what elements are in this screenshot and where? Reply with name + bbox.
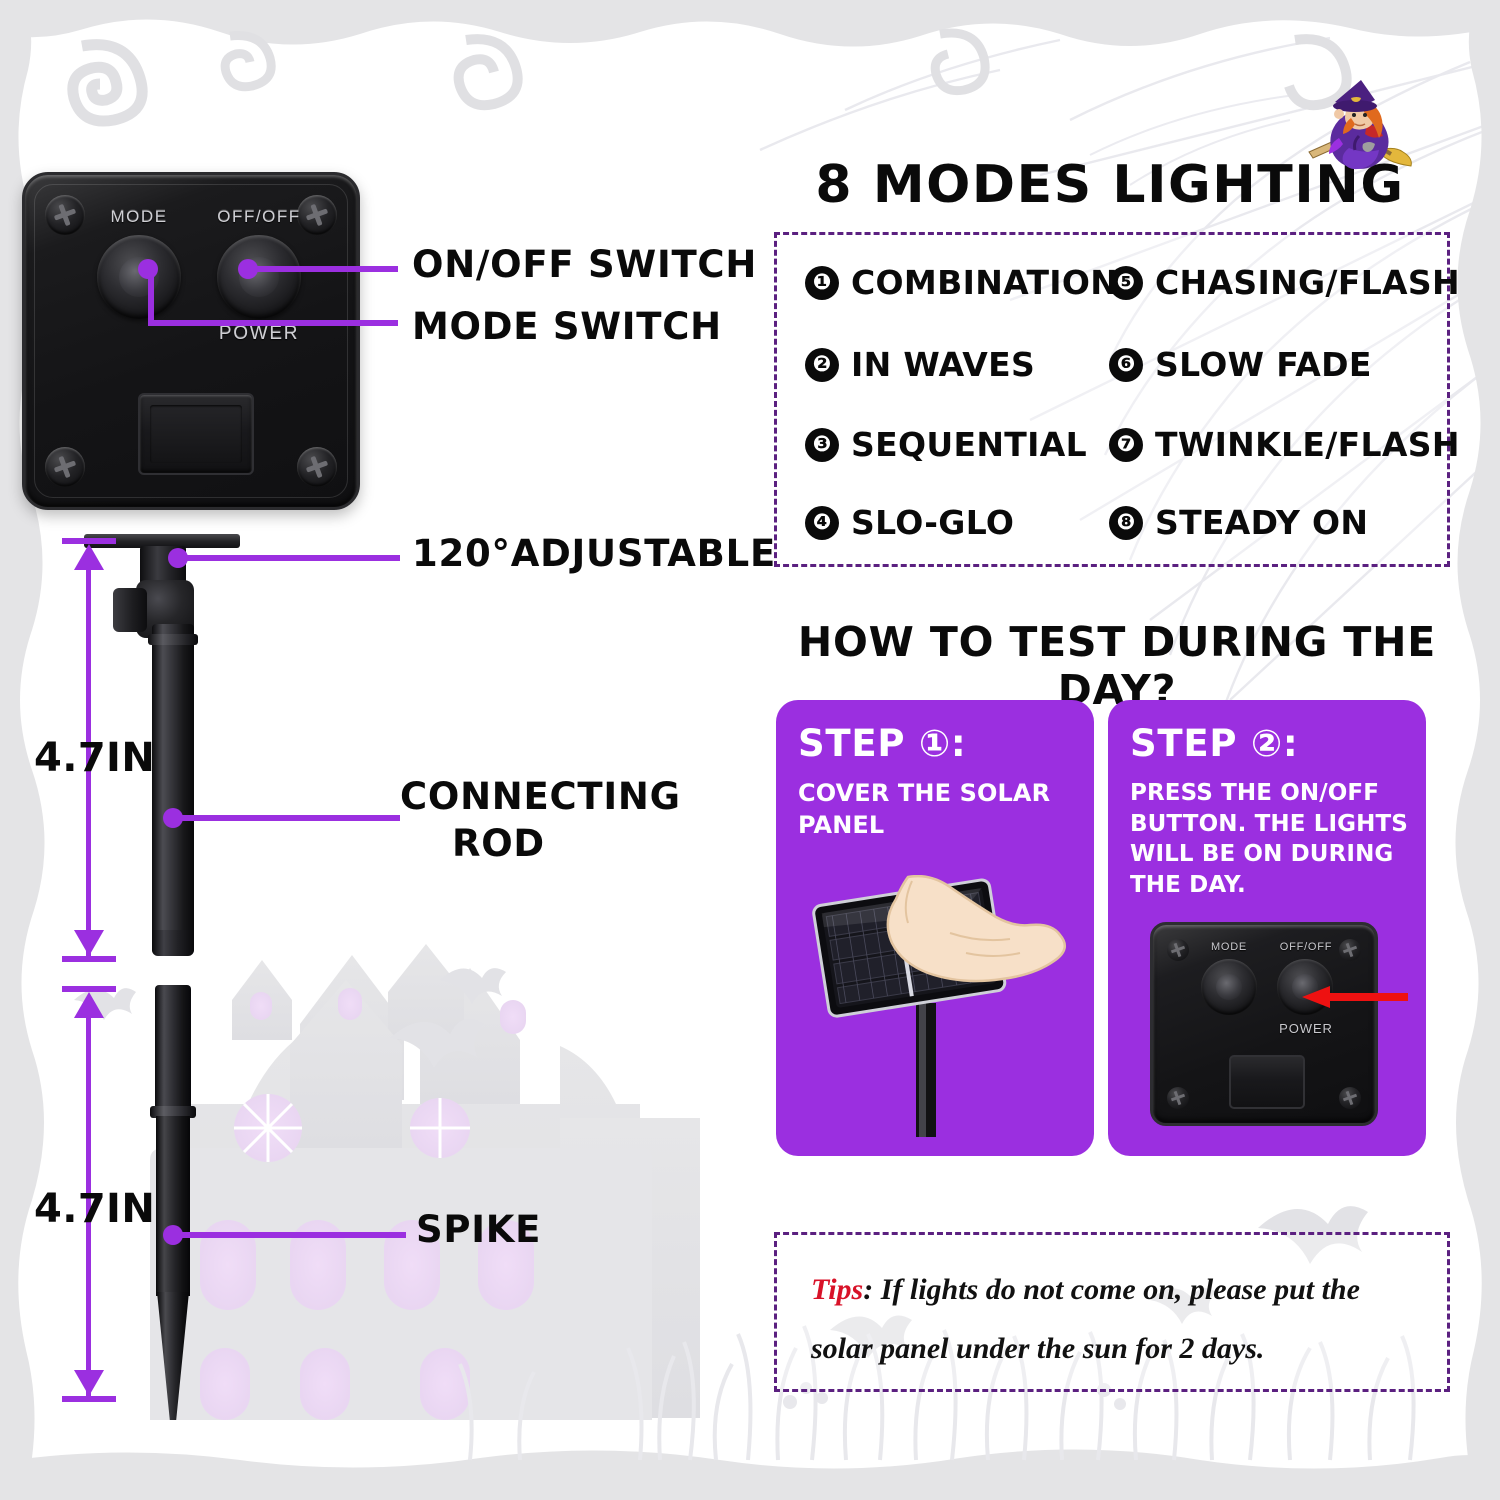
leader-dot-rod	[163, 808, 183, 828]
tips-text: Tips: If lights do not come on, please p…	[811, 1261, 1423, 1378]
leader-line-rod	[173, 815, 400, 821]
callout-connecting-rod-line2: ROD	[452, 822, 545, 865]
dimension-label-rod: 4.7IN	[34, 735, 155, 781]
dimension-label-spike: 4.7IN	[34, 1186, 155, 1232]
spike-tip	[157, 1292, 189, 1420]
callout-spike: SPIKE	[416, 1208, 541, 1251]
dim-tick-bottom-2	[62, 1396, 116, 1402]
mini-panel-boss	[1229, 1055, 1305, 1109]
mode-number: ❻	[1109, 348, 1143, 382]
dim-tick-bottom-1	[62, 956, 116, 962]
mode-number: ❺	[1109, 266, 1143, 300]
modes-list-box: ❶ COMBINATION ❷ IN WAVES ❸ SEQUENTIAL ❹ …	[774, 232, 1450, 567]
tips-body: : If lights do not come on, please put t…	[811, 1273, 1360, 1365]
mode-number: ❸	[805, 428, 839, 462]
hinge-knob	[113, 588, 147, 632]
callout-adjustable: 120°ADJUSTABLE	[412, 532, 776, 575]
mode-item: ❽ STEADY ON	[1109, 503, 1368, 542]
step-1-body: COVER THE SOLAR PANEL	[798, 778, 1082, 842]
screw-icon	[45, 195, 85, 235]
panel-label-offoff: OFF/OFF	[211, 207, 307, 227]
dim-arrow-down-1	[74, 930, 104, 956]
mode-number: ❷	[805, 348, 839, 382]
screw-icon	[297, 447, 337, 487]
step-2-heading: STEP ②:	[1130, 722, 1298, 765]
step-card-2: STEP ②: PRESS THE ON/OFF BUTTON. THE LIG…	[1108, 700, 1426, 1156]
connecting-rod	[152, 624, 194, 954]
rod-cap	[152, 930, 194, 956]
leader-line-adjustable	[178, 555, 400, 561]
step-card-1: STEP ①: COVER THE SOLAR PANEL	[776, 700, 1094, 1156]
callout-mode-switch: MODE SWITCH	[412, 305, 722, 348]
mode-item: ❻ SLOW FADE	[1109, 345, 1372, 384]
panel-label-power: POWER	[205, 323, 313, 345]
leader-dot-spike	[163, 1225, 183, 1245]
leader-dot-adjustable	[168, 548, 188, 568]
mode-button[interactable]	[97, 235, 181, 319]
mode-number: ❽	[1109, 506, 1143, 540]
callout-on-off-switch: ON/OFF SWITCH	[412, 243, 757, 286]
mode-label: IN WAVES	[851, 345, 1035, 384]
mode-item: ❷ IN WAVES	[805, 345, 1035, 384]
tips-box: Tips: If lights do not come on, please p…	[774, 1232, 1450, 1392]
mode-label: SLO-GLO	[851, 503, 1014, 542]
panel-boss	[138, 393, 254, 475]
leader-dot-on-off	[238, 259, 258, 279]
mode-item: ❹ SLO-GLO	[805, 503, 1014, 542]
screw-icon	[1339, 1087, 1361, 1109]
mode-number: ❶	[805, 266, 839, 300]
step-2-body: PRESS THE ON/OFF BUTTON. THE LIGHTS WILL…	[1130, 778, 1414, 900]
red-arrow-icon	[1300, 984, 1408, 1010]
info-column: 8 MODES LIGHTING ❶ COMB	[760, 0, 1500, 1500]
witch-icon	[1305, 78, 1415, 174]
mode-label: STEADY ON	[1155, 503, 1368, 542]
mini-panel-label-power: POWER	[1271, 1021, 1341, 1036]
tips-keyword: Tips	[811, 1273, 863, 1306]
solar-panel-back: MODE OFF/OFF POWER	[22, 172, 360, 510]
mode-label: CHASING/FLASH	[1155, 263, 1460, 302]
mode-label: SEQUENTIAL	[851, 425, 1087, 464]
mode-label: COMBINATION	[851, 263, 1118, 302]
leader-line-mode-h	[148, 320, 398, 326]
mode-item: ❶ COMBINATION	[805, 263, 1118, 302]
leader-line-on-off	[248, 266, 398, 272]
mode-item: ❼ TWINKLE/FLASH	[1109, 425, 1460, 464]
leader-line-spike	[173, 1232, 406, 1238]
screw-icon	[1167, 939, 1189, 961]
step-1-heading: STEP ①:	[798, 722, 966, 765]
mode-item: ❸ SEQUENTIAL	[805, 425, 1087, 464]
screw-icon	[45, 447, 85, 487]
mode-label: TWINKLE/FLASH	[1155, 425, 1460, 464]
mode-label: SLOW FADE	[1155, 345, 1372, 384]
mode-item: ❺ CHASING/FLASH	[1109, 263, 1460, 302]
power-button[interactable]	[217, 235, 301, 319]
callout-connecting-rod-line1: CONNECTING	[400, 775, 681, 818]
leader-dot-mode	[138, 259, 158, 279]
cover-solar-panel-illustration	[798, 875, 1078, 1137]
dim-arrow-down-2	[74, 1370, 104, 1396]
screw-icon	[1339, 939, 1361, 961]
product-diagram-column: MODE OFF/OFF POWER ON/OFF SWITCH MODE SW…	[0, 0, 760, 1500]
press-button-illustration: MODE OFF/OFF POWER	[1150, 922, 1384, 1134]
mini-solar-panel-back: MODE OFF/OFF POWER	[1150, 922, 1378, 1126]
mini-panel-label-offoff: OFF/OFF	[1275, 941, 1337, 953]
spike-upper	[155, 985, 191, 1115]
mini-mode-button[interactable]	[1201, 959, 1257, 1015]
mode-number: ❼	[1109, 428, 1143, 462]
screw-icon	[1167, 1087, 1189, 1109]
spike-body	[156, 1116, 190, 1296]
panel-label-mode: MODE	[97, 207, 181, 227]
mini-panel-label-mode: MODE	[1201, 941, 1257, 953]
mode-number: ❹	[805, 506, 839, 540]
rod-collar	[148, 634, 198, 645]
